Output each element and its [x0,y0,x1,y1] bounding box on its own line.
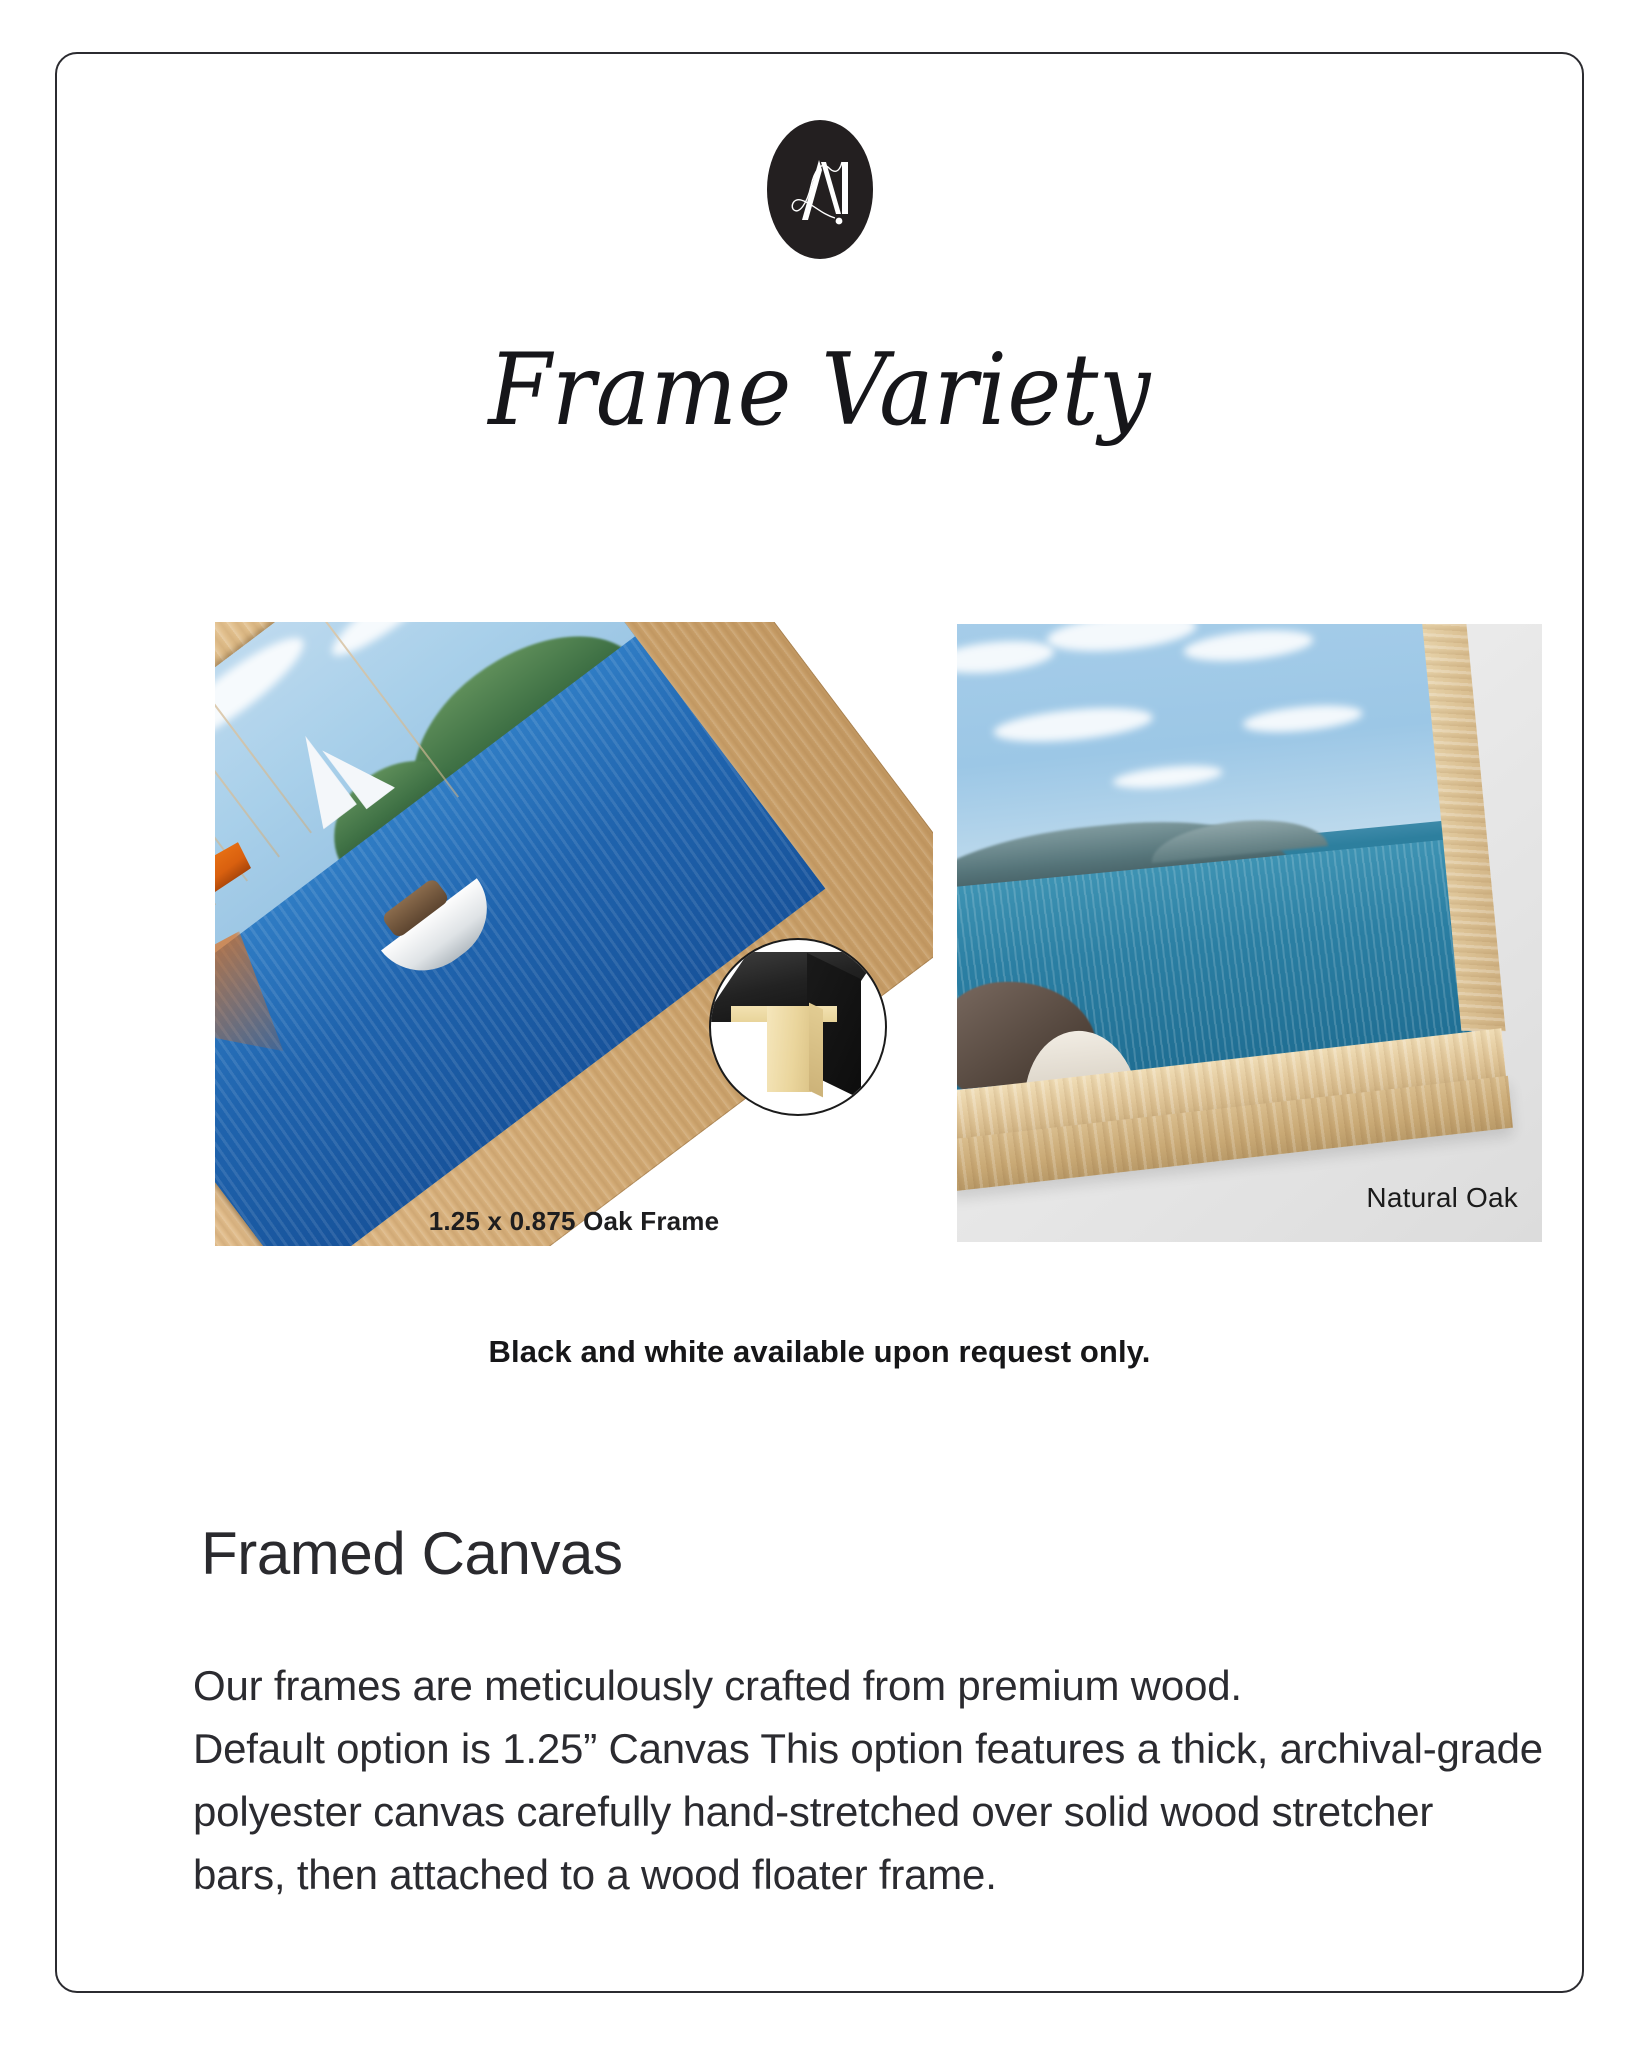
gallery-row: Natural Oak [57,622,1582,1246]
content-card: Frame Variety [55,52,1584,1993]
am-monogram-oval-logo [767,120,873,259]
framed-sailboat-artwork [215,622,933,1246]
body-line: Our frames are meticulously crafted from… [193,1654,1613,1717]
availability-note: Black and white available upon request o… [57,1334,1582,1370]
natural-oak-frame-image: Natural Oak [957,624,1542,1242]
page-title: Frame Variety [118,339,1521,443]
oak-frame-corner-image [215,622,933,1246]
frame-color-label: Natural Oak [1366,1182,1518,1214]
seascape-photo [957,624,1472,1090]
brand-logo [57,120,1582,259]
framed-seascape-artwork [957,624,1472,1090]
section-body: Our frames are meticulously crafted from… [193,1654,1613,1906]
body-line: bars, then attached to a wood floater fr… [193,1843,1613,1906]
frame-variety-page: Frame Variety [0,0,1638,2048]
body-line: Default option is 1.25” Canvas This opti… [193,1717,1613,1780]
frame-profile-swatch-icon [709,938,887,1116]
section-heading: Framed Canvas [201,1519,623,1588]
body-line: polyester canvas carefully hand-stretche… [193,1780,1613,1843]
frame-size-caption: 1.25 x 0.875 Oak Frame [215,1206,933,1237]
